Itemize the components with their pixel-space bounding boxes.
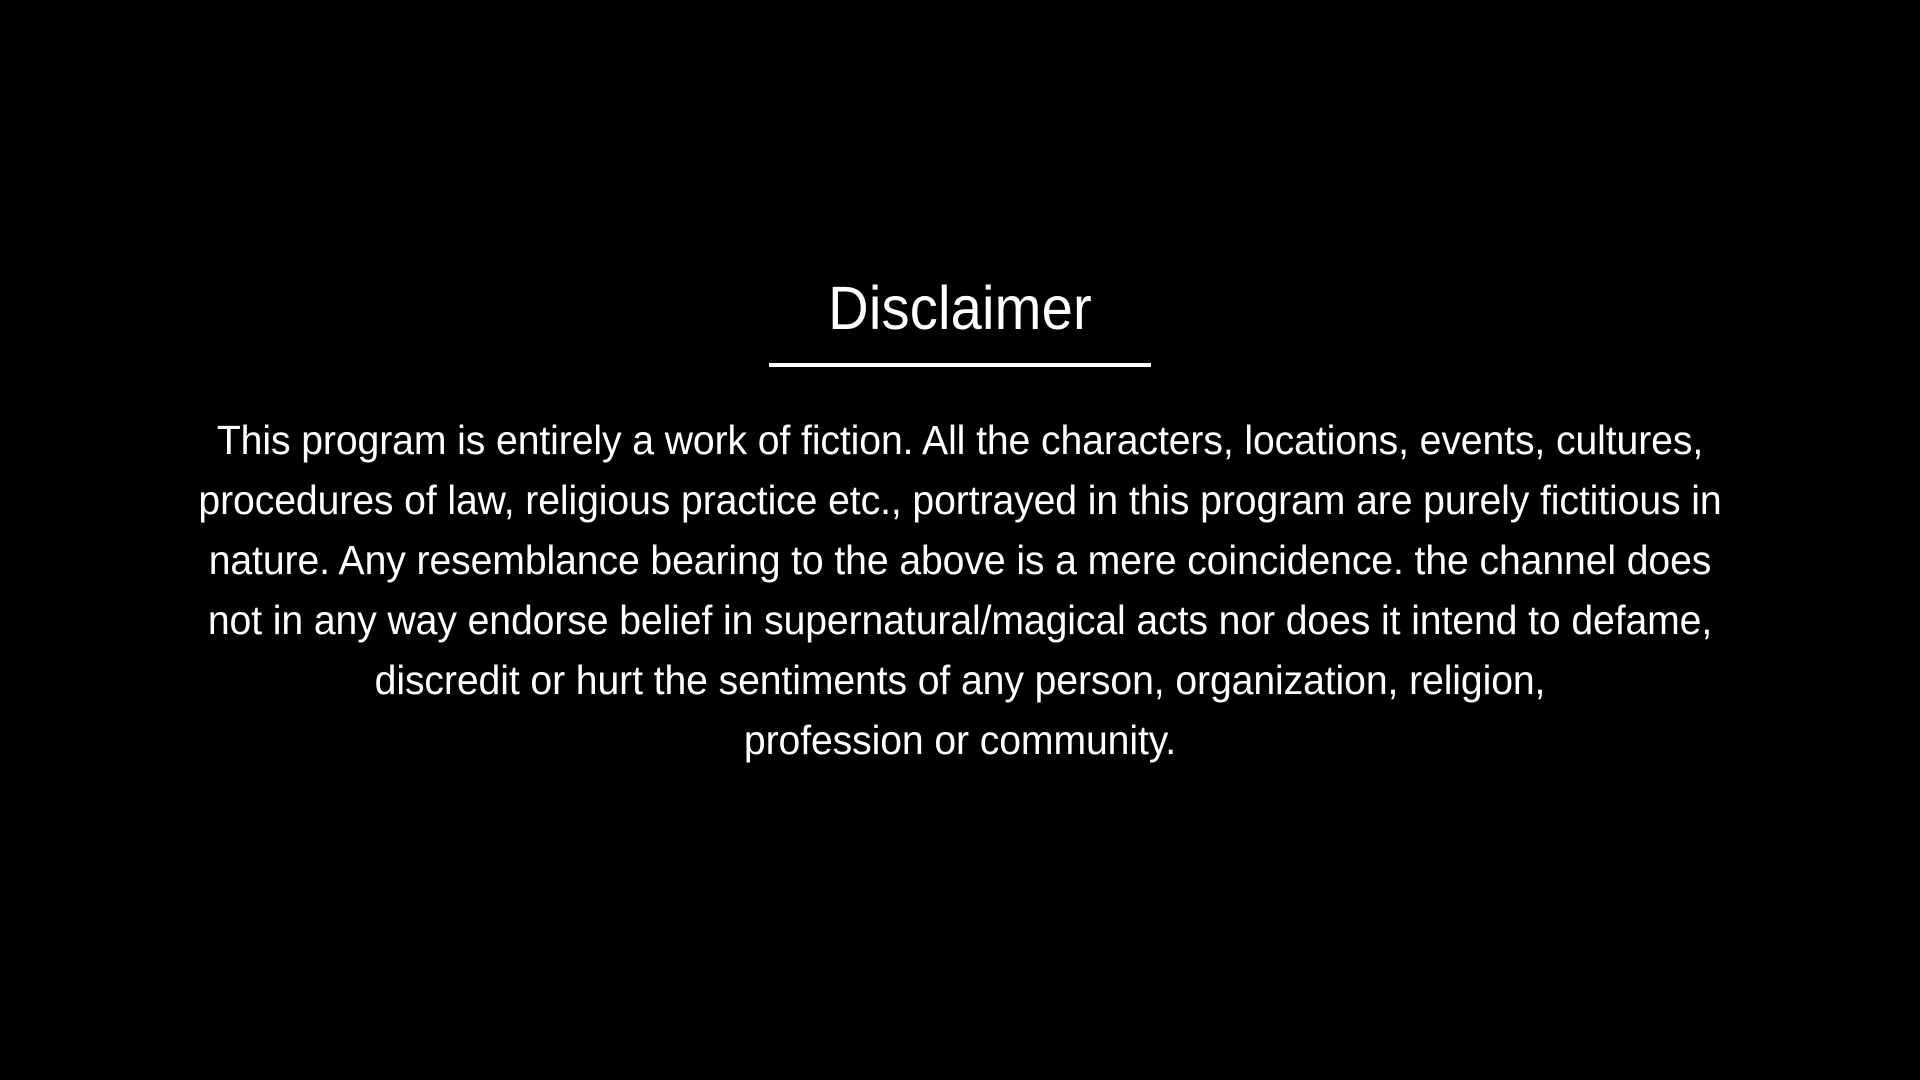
disclaimer-line: profession or community.: [167, 710, 1752, 770]
disclaimer-line: procedures of law, religious practice et…: [167, 470, 1752, 530]
disclaimer-line: nature. Any resemblance bearing to the a…: [167, 530, 1752, 590]
title-underline-rule: [769, 363, 1151, 367]
page-title: Disclaimer: [77, 276, 1843, 340]
disclaimer-line: discredit or hurt the sentiments of any …: [167, 650, 1752, 710]
disclaimer-line: not in any way endorse belief in superna…: [167, 590, 1752, 650]
title-block: Disclaimer: [0, 276, 1920, 340]
disclaimer-text-block: This program is entirely a work of ficti…: [130, 410, 1790, 770]
disclaimer-line: This program is entirely a work of ficti…: [167, 410, 1752, 470]
disclaimer-slide: Disclaimer This program is entirely a wo…: [0, 0, 1920, 1080]
